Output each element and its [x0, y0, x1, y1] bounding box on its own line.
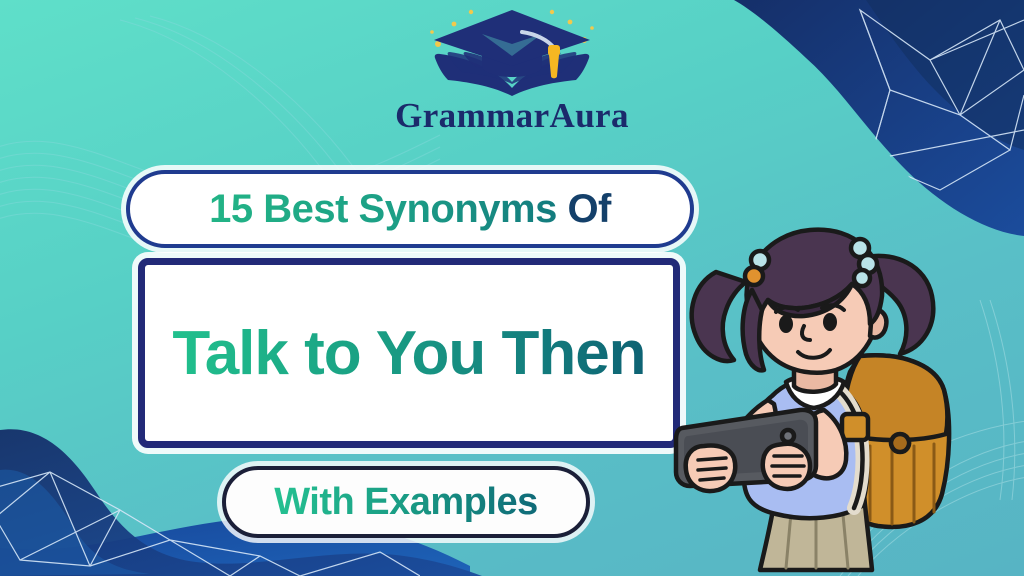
headline-top-pill: 15 Best Synonyms Of	[126, 170, 694, 248]
brand-logo-block: GrammarAura	[0, 4, 1024, 133]
headline-top-green-part: 15 Best Synonyms	[209, 187, 557, 231]
hand-right	[686, 446, 736, 492]
headline-top-navy-part: Of	[567, 187, 610, 231]
hand-left	[763, 444, 810, 489]
tablet-camera	[782, 430, 794, 442]
main-title-text: Talk to You Then	[172, 318, 645, 389]
headline-top-text: 15 Best Synonyms Of	[209, 187, 611, 232]
main-title-box: Talk to You Then	[138, 258, 680, 448]
pigtail-left	[692, 272, 746, 361]
brand-name-text: GrammarAura	[0, 98, 1024, 133]
subtitle-bottom-text: With Examples	[274, 481, 537, 524]
subtitle-bottom-pill: With Examples	[222, 466, 590, 538]
schoolgirl-with-tablet-illustration	[664, 214, 964, 576]
backpack-lock	[891, 434, 909, 452]
thumbnail-canvas: GrammarAura 15 Best Synonyms Of Talk to …	[0, 0, 1024, 576]
strap-buckle	[842, 414, 868, 440]
graduation-cap-book-logo-icon	[424, 4, 600, 96]
